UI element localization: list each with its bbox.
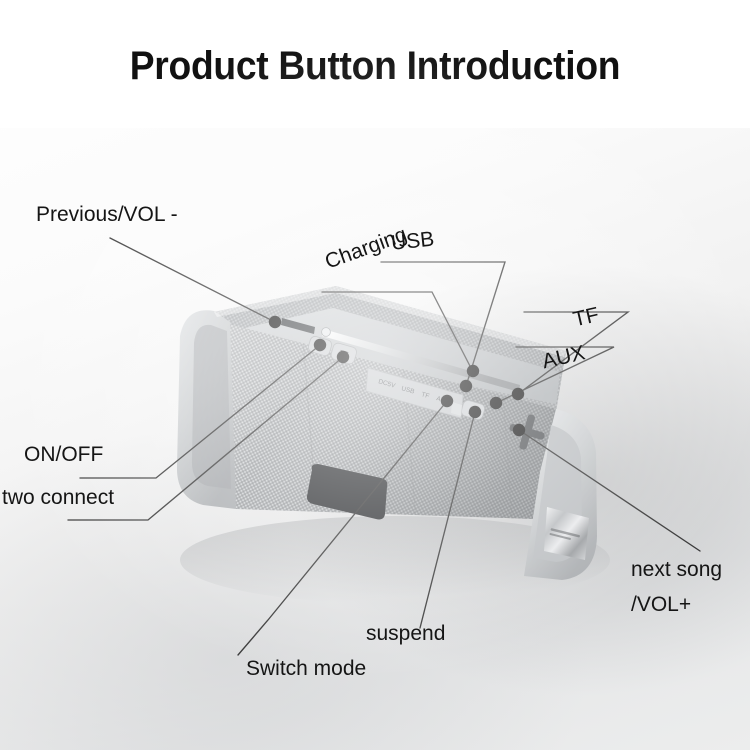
endpoint-on-off — [314, 339, 326, 351]
callout-on-off: ON/OFF — [24, 443, 103, 467]
endpoint-switch-mode — [441, 395, 453, 407]
endpoint-aux — [490, 397, 502, 409]
callout-suspend: suspend — [366, 622, 445, 646]
endpoint-usb — [460, 380, 472, 392]
endpoint-tf — [512, 388, 524, 400]
endpoint-previous-vol-down — [269, 316, 281, 328]
leader-switch-mode — [238, 401, 447, 655]
leader-on-off — [80, 345, 320, 478]
callout-previous-vol-down: Previous/VOL - — [36, 203, 178, 227]
callout-usb: USB — [390, 227, 435, 256]
callout-next-song-line1: next song — [631, 558, 722, 582]
callout-two-connect: two connect — [2, 486, 114, 510]
leader-next-song-vol-up — [519, 430, 700, 551]
callout-next-song: next song /VOL+ — [631, 558, 722, 618]
callout-switch-mode: Switch mode — [246, 657, 366, 681]
callout-next-song-line2: /VOL+ — [631, 593, 722, 617]
endpoint-suspend — [469, 406, 481, 418]
endpoint-next-song-vol-up — [513, 424, 525, 436]
product-diagram: Product Button Introduction — [0, 0, 750, 750]
leader-previous-vol-down — [110, 238, 273, 321]
endpoint-two-connect — [337, 351, 349, 363]
leader-suspend — [420, 412, 475, 628]
leader-usb — [381, 262, 505, 386]
endpoint-charging — [467, 365, 479, 377]
leader-endpoints — [269, 316, 525, 436]
